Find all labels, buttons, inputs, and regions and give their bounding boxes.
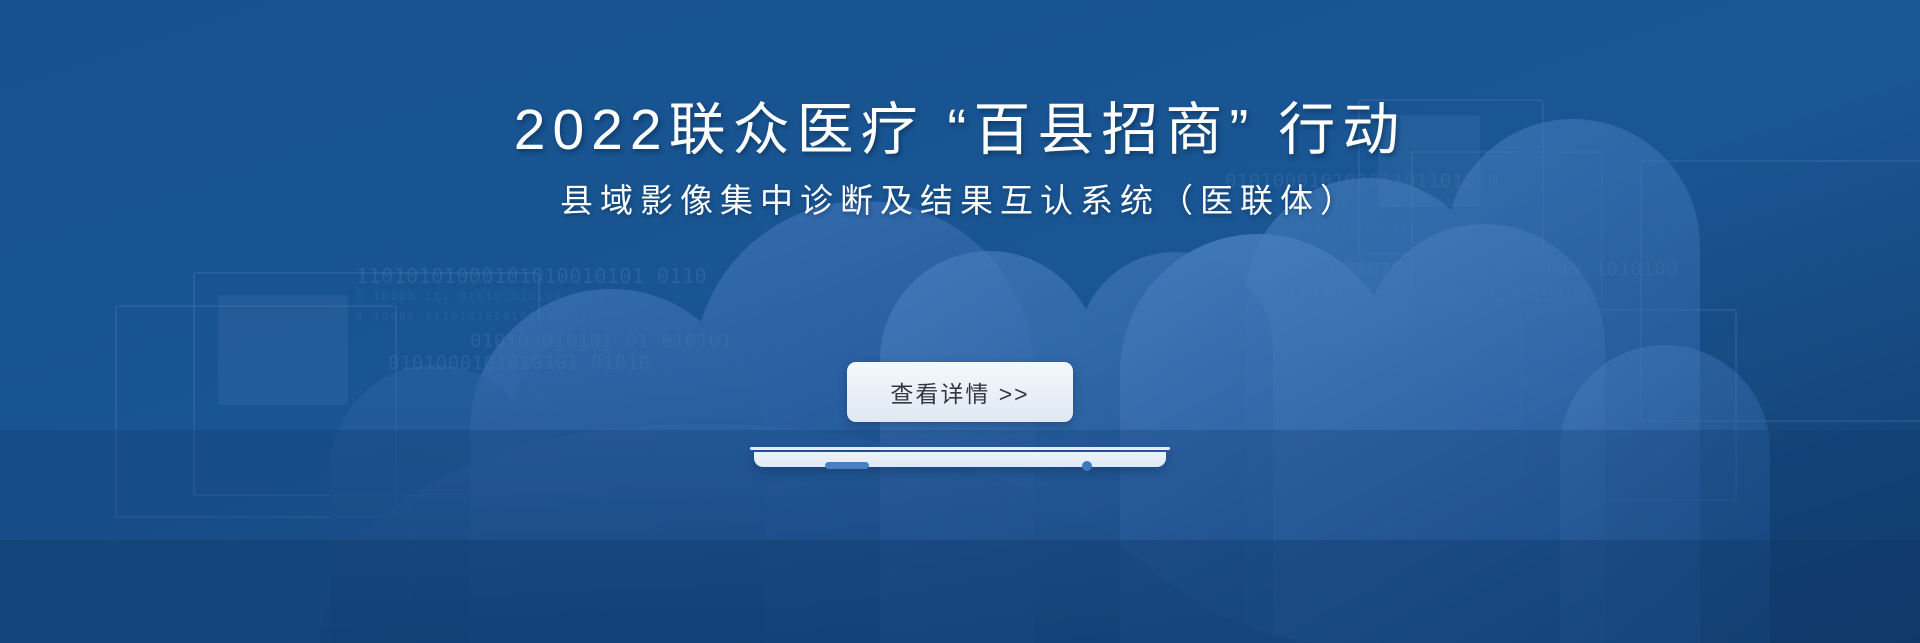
cloud-layer-center — [470, 201, 1034, 643]
binary-text: 01010101010100010 — [1280, 222, 1427, 235]
laptop-base-illustration — [750, 447, 1170, 473]
binary-text: 01010101010101 0101010 1010100 — [1320, 258, 1678, 280]
banner-subtitle: 县域影像集中诊断及结果互认系统（医联体） — [0, 163, 1920, 223]
decor-outline-rect-group-center — [410, 490, 605, 625]
laptop-base-body — [754, 452, 1166, 467]
banner-headline-block: 2022联众医疗 “百县招商” 行动 县域影像集中诊断及结果互认系统（医联体） — [0, 0, 1920, 223]
binary-text: 0101 — [1425, 258, 1461, 274]
decor-filled-square-left — [218, 295, 348, 405]
cloud-layer-mid-right — [1120, 224, 1605, 643]
binary-text: 01010001010100101010 10101 — [1280, 284, 1590, 306]
promo-banner: 11010101000101010010101 0110 0 10000 111… — [0, 0, 1920, 643]
binary-text: 0101000101010101 01010 — [388, 352, 651, 374]
binary-text: 0 10000 111 010101010100 0101 — [356, 290, 606, 303]
cloud-layer-right-edge — [1560, 345, 1770, 643]
banner-title: 2022联众医疗 “百县招商” 行动 — [0, 0, 1920, 163]
binary-text: 11010101000101010010101 0110 — [356, 264, 707, 288]
cloud-layer-left — [330, 314, 765, 643]
laptop-screen-edge — [750, 447, 1170, 450]
view-details-button[interactable]: 查看详情 >> — [847, 362, 1073, 422]
decor-outline-rect-group-left — [116, 273, 539, 517]
binary-text: 0 10000 11101010101010100010 — [356, 310, 597, 323]
laptop-speaker-bar — [825, 462, 869, 469]
laptop-indicator-dot — [1082, 461, 1092, 471]
binary-text: 010101010101 01 010101 — [470, 330, 733, 352]
